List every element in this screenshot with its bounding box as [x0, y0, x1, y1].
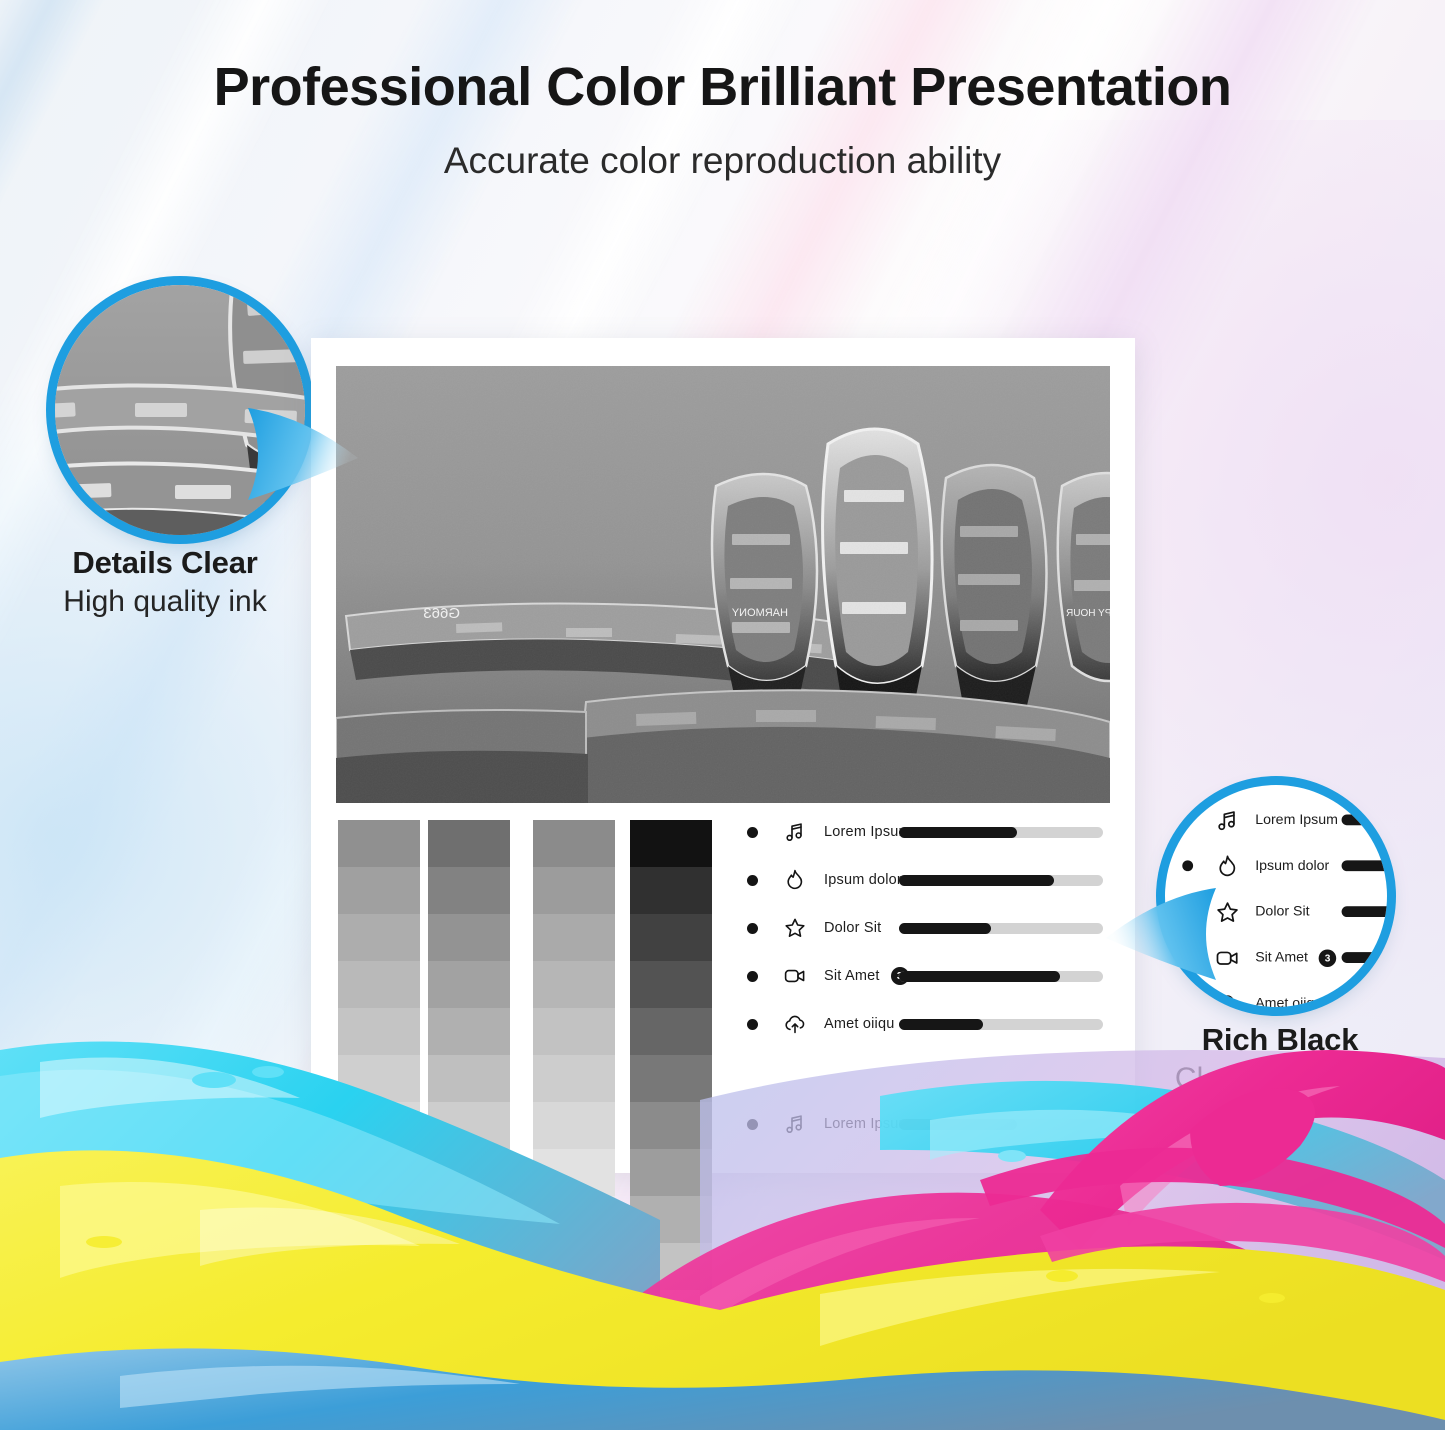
- poster-canvas: Professional Color Brilliant Presentatio…: [0, 0, 1445, 1430]
- magnified-row-label: Amet oiiqu: [1255, 995, 1322, 1007]
- feature-row-label: Sit Amet: [824, 968, 880, 984]
- progress-bar-fill: [1342, 814, 1387, 825]
- bullet-dot-icon: [747, 827, 758, 838]
- progress-bar-fill: [1342, 906, 1387, 917]
- swatch-step: [533, 961, 615, 1008]
- swatch-step: [338, 867, 420, 914]
- progress-bar-fill: [1342, 998, 1387, 1007]
- progress-bar-fill: [899, 875, 1054, 886]
- video-camera-icon: [782, 963, 808, 989]
- swatch-step: [630, 961, 712, 1008]
- video-camera-icon: [1215, 945, 1241, 971]
- progress-bar[interactable]: [899, 923, 1103, 934]
- callout-text-left: Details Clear High quality ink: [10, 545, 320, 619]
- progress-bar: [1342, 906, 1387, 917]
- magnified-row-label: Ipsum dolor: [1255, 858, 1329, 874]
- bullet-dot-icon: [747, 875, 758, 886]
- callout-left-title: Details Clear: [10, 545, 320, 581]
- boat-photograph: G663 HARMONY: [336, 366, 1110, 803]
- swatch-step: [533, 867, 615, 914]
- header: Professional Color Brilliant Presentatio…: [0, 0, 1445, 182]
- bullet-dot-icon: [1182, 860, 1193, 871]
- boat-photo-svg: G663 HARMONY: [336, 366, 1110, 803]
- swatch-step: [533, 820, 615, 867]
- feature-row[interactable]: Sit Amet3: [731, 952, 1121, 1000]
- swatch-step: [533, 914, 615, 961]
- progress-bar[interactable]: [899, 827, 1103, 838]
- swatch-step: [630, 820, 712, 867]
- swatch-step: [338, 914, 420, 961]
- music-note-icon: [782, 819, 808, 845]
- star-icon: [1215, 899, 1241, 925]
- swatch-step: [428, 914, 510, 961]
- connector-arrow-left-icon: [246, 398, 366, 526]
- bullet-dot-icon: [747, 923, 758, 934]
- callout-left-subtitle: High quality ink: [10, 585, 320, 619]
- feature-row[interactable]: Lorem Ipsum: [731, 808, 1121, 856]
- magnified-feature-row: Lorem Ipsum: [1177, 797, 1387, 843]
- feature-row[interactable]: Dolor Sit: [731, 904, 1121, 952]
- page-title: Professional Color Brilliant Presentatio…: [0, 0, 1445, 118]
- swatch-step: [428, 820, 510, 867]
- flame-icon: [782, 867, 808, 893]
- progress-bar-fill: [899, 827, 1017, 838]
- progress-bar: [1342, 860, 1387, 871]
- callout-connector-left: [246, 398, 366, 526]
- magnified-row-label: Dolor Sit: [1255, 904, 1309, 920]
- progress-bar-fill: [899, 971, 1060, 982]
- progress-bar: [1342, 814, 1387, 825]
- progress-bar[interactable]: [899, 971, 1103, 982]
- callout-connector-right: [1098, 878, 1218, 1006]
- cmyk-paint-wave: [0, 1010, 1445, 1430]
- music-note-icon: [1215, 807, 1241, 833]
- magnified-row-label: Lorem Ipsum: [1255, 812, 1338, 828]
- magnified-row-label: Sit Amet: [1255, 949, 1308, 965]
- flame-icon: [1215, 853, 1241, 879]
- count-badge: 3: [1319, 949, 1337, 967]
- connector-arrow-right-icon: [1098, 878, 1218, 1006]
- bullet-dot-icon: [1182, 814, 1193, 825]
- swatch-step: [630, 867, 712, 914]
- progress-bar: [1342, 998, 1387, 1007]
- progress-bar: [1342, 952, 1387, 963]
- swatch-step: [630, 914, 712, 961]
- progress-bar-fill: [1342, 860, 1387, 871]
- feature-row-label: Ipsum dolor: [824, 872, 902, 888]
- feature-row-label: Dolor Sit: [824, 920, 881, 936]
- bullet-dot-icon: [747, 971, 758, 982]
- progress-bar[interactable]: [899, 875, 1103, 886]
- swatch-step: [338, 820, 420, 867]
- progress-bar-fill: [899, 923, 991, 934]
- swatch-step: [428, 961, 510, 1008]
- feature-row-label: Lorem Ipsum: [824, 824, 911, 840]
- progress-bar-fill: [1342, 952, 1387, 963]
- swatch-step: [338, 961, 420, 1008]
- swatch-step: [428, 867, 510, 914]
- page-subtitle: Accurate color reproduction ability: [0, 118, 1445, 182]
- star-icon: [782, 915, 808, 941]
- paint-wave-svg: [0, 1010, 1445, 1430]
- feature-row[interactable]: Ipsum dolor: [731, 856, 1121, 904]
- cloud-upload-icon: [1215, 991, 1241, 1007]
